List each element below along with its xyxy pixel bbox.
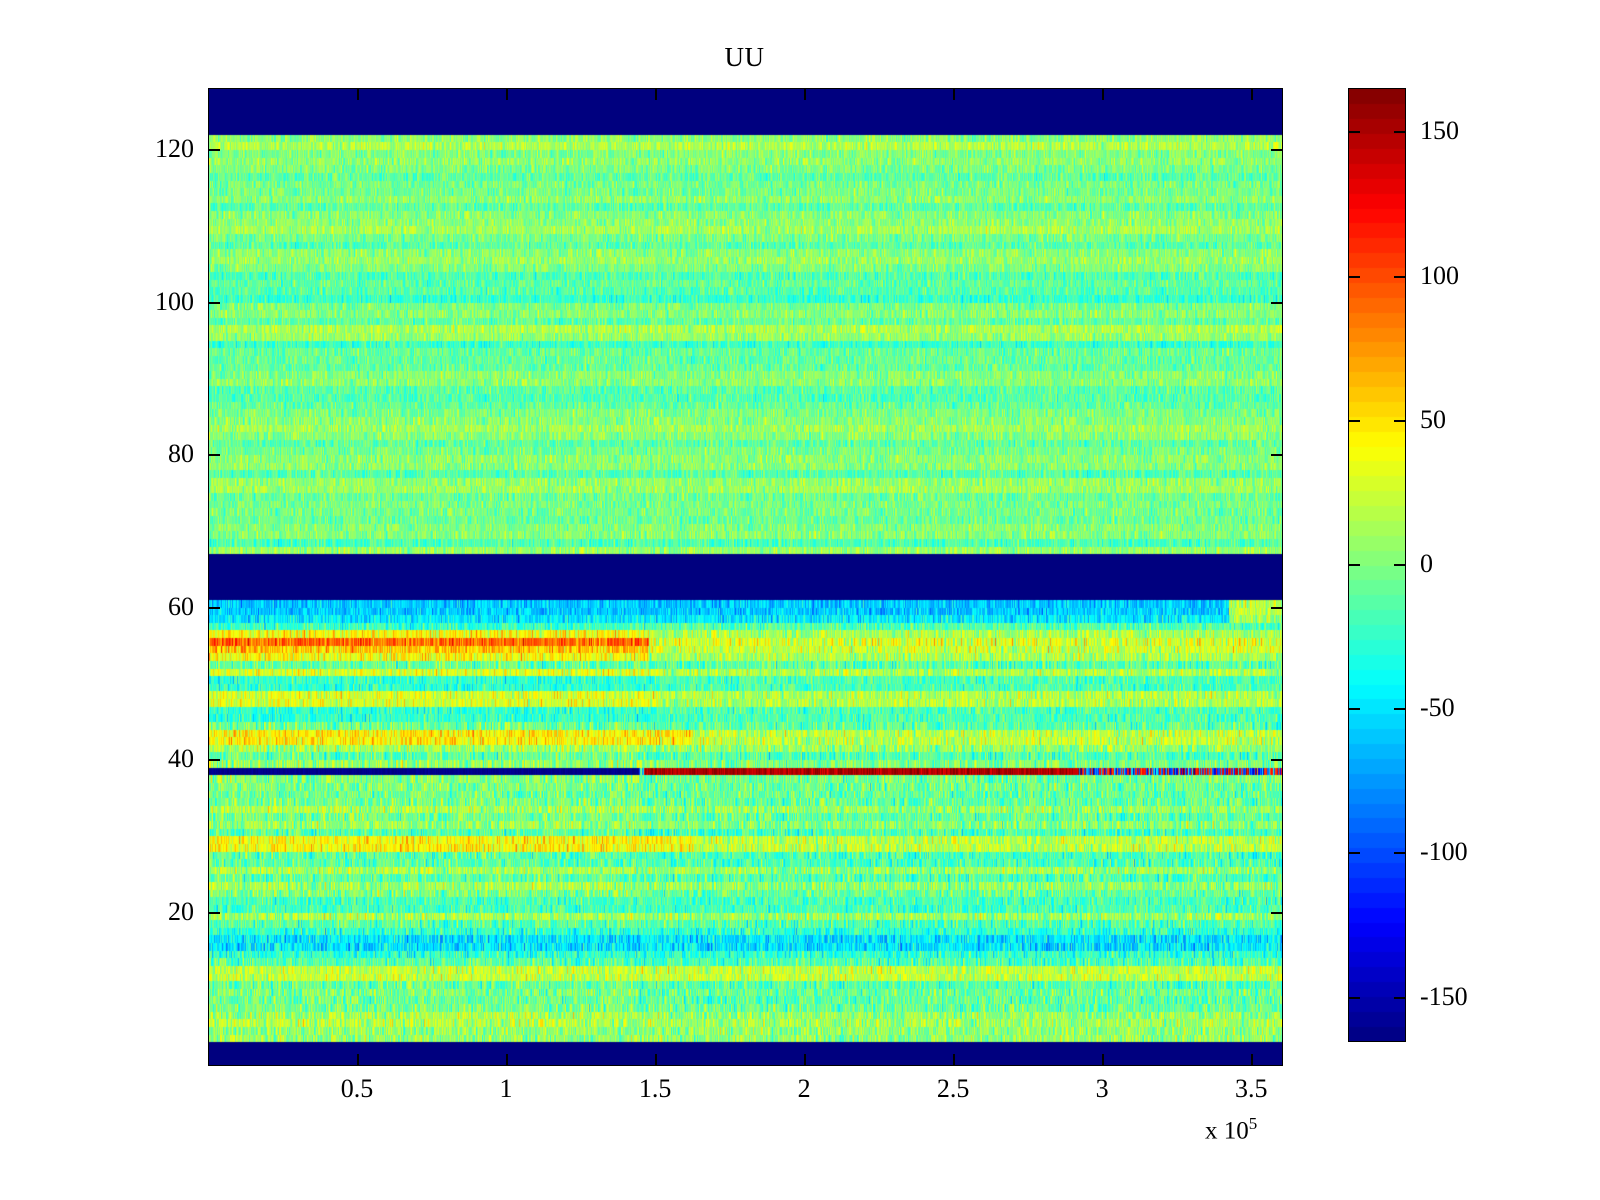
colorbar-tick-label: 50 bbox=[1420, 405, 1446, 435]
colorbar-tick-mark bbox=[1394, 131, 1405, 133]
x-tick-mark bbox=[357, 89, 359, 100]
y-tick-mark bbox=[209, 759, 220, 761]
y-tick-label: 120 bbox=[0, 134, 194, 164]
colorbar-tick-mark bbox=[1349, 420, 1360, 422]
colorbar-tick-mark bbox=[1394, 564, 1405, 566]
x-tick-mark bbox=[506, 89, 508, 100]
colorbar-region bbox=[1348, 88, 1404, 1040]
colorbar-tick-mark bbox=[1394, 420, 1405, 422]
y-tick-mark bbox=[209, 302, 220, 304]
x-tick-label: 1 bbox=[500, 1074, 513, 1104]
x-axis-exponent-label: x 105 bbox=[1205, 1114, 1257, 1145]
colorbar-tick-mark bbox=[1349, 997, 1360, 999]
colorbar-tick-label: 0 bbox=[1420, 549, 1433, 579]
colorbar-tick-mark bbox=[1394, 997, 1405, 999]
y-tick-mark bbox=[1271, 759, 1282, 761]
colorbar-tick-mark bbox=[1394, 852, 1405, 854]
y-tick-mark bbox=[209, 607, 220, 609]
colorbar-tick-label: -150 bbox=[1420, 982, 1468, 1012]
x-exponent-power: 5 bbox=[1249, 1114, 1258, 1133]
y-tick-mark bbox=[1271, 912, 1282, 914]
x-tick-mark bbox=[655, 1054, 657, 1065]
colorbar-tick-mark bbox=[1349, 852, 1360, 854]
colorbar-tick-label: -50 bbox=[1420, 693, 1455, 723]
x-tick-mark bbox=[953, 1054, 955, 1065]
x-tick-label: 1.5 bbox=[639, 1074, 672, 1104]
heatmap-axes bbox=[208, 88, 1283, 1066]
x-tick-mark bbox=[1102, 89, 1104, 100]
y-tick-label: 20 bbox=[0, 897, 194, 927]
y-tick-mark bbox=[1271, 149, 1282, 151]
colorbar-tick-mark bbox=[1349, 708, 1360, 710]
colorbar-tick-mark bbox=[1349, 276, 1360, 278]
y-tick-mark bbox=[209, 454, 220, 456]
y-tick-mark bbox=[1271, 454, 1282, 456]
y-tick-mark bbox=[209, 149, 220, 151]
colorbar-tick-label: 150 bbox=[1420, 116, 1459, 146]
y-tick-label: 80 bbox=[0, 439, 194, 469]
y-tick-label: 100 bbox=[0, 287, 194, 317]
colorbar-tick-mark bbox=[1349, 131, 1360, 133]
colorbar-tick-mark bbox=[1394, 276, 1405, 278]
x-tick-mark bbox=[804, 89, 806, 100]
x-tick-mark bbox=[1251, 1054, 1253, 1065]
colorbar-tick-mark bbox=[1394, 708, 1405, 710]
x-tick-label: 2.5 bbox=[937, 1074, 970, 1104]
x-tick-mark bbox=[357, 1054, 359, 1065]
matlab-figure: UU 204060801001200.511.522.533.5 x 105 1… bbox=[0, 0, 1600, 1200]
x-tick-mark bbox=[506, 1054, 508, 1065]
y-tick-mark bbox=[1271, 607, 1282, 609]
x-tick-mark bbox=[1251, 89, 1253, 100]
y-tick-label: 40 bbox=[0, 744, 194, 774]
x-tick-label: 2 bbox=[798, 1074, 811, 1104]
x-tick-mark bbox=[1102, 1054, 1104, 1065]
colorbar-tick-label: 100 bbox=[1420, 261, 1459, 291]
x-tick-mark bbox=[953, 89, 955, 100]
x-tick-mark bbox=[804, 1054, 806, 1065]
x-exponent-mantissa: x 10 bbox=[1205, 1117, 1249, 1144]
page-title: UU bbox=[208, 42, 1281, 73]
y-tick-mark bbox=[209, 912, 220, 914]
x-tick-label: 3 bbox=[1096, 1074, 1109, 1104]
x-tick-label: 3.5 bbox=[1235, 1074, 1268, 1104]
colorbar-tick-label: -100 bbox=[1420, 837, 1468, 867]
y-tick-mark bbox=[1271, 302, 1282, 304]
y-tick-label: 60 bbox=[0, 592, 194, 622]
colorbar bbox=[1348, 88, 1406, 1042]
x-tick-mark bbox=[655, 89, 657, 100]
x-tick-label: 0.5 bbox=[341, 1074, 374, 1104]
heatmap-image bbox=[209, 89, 1282, 1065]
colorbar-tick-mark bbox=[1349, 564, 1360, 566]
